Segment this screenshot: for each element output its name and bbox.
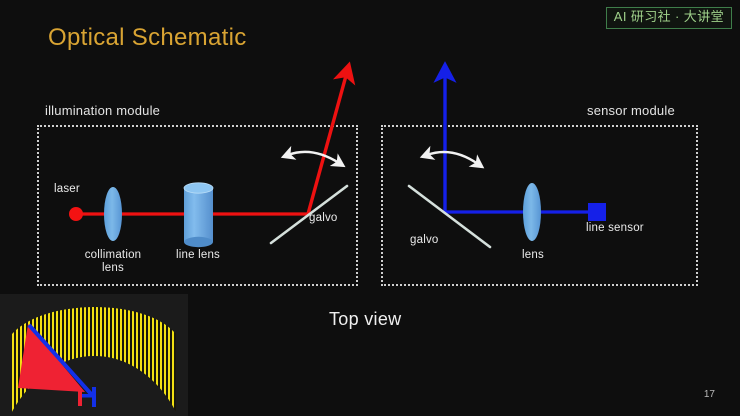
line-lens-label: line lens (167, 249, 229, 262)
top-view-label: Top view (329, 309, 401, 330)
lens-label: lens (512, 249, 554, 262)
laser-label: laser (54, 183, 80, 196)
page-number: 17 (704, 389, 715, 400)
receiver-marker (92, 387, 96, 407)
sensor-module-label: sensor module (587, 103, 675, 118)
illumination-module-label: illumination module (45, 103, 160, 118)
collimation-lens-label: collimation lens (80, 249, 146, 275)
page-title: Optical Schematic (48, 24, 247, 52)
brand-logo: AI 研习社 · 大讲堂 (606, 7, 732, 29)
slide-canvas: AI 研习社 · 大讲堂 Optical Schematic illuminat… (0, 0, 740, 416)
galvo-right-label: galvo (410, 234, 439, 247)
galvo-left-label: galvo (309, 212, 338, 225)
line-sensor-label: line sensor (586, 222, 644, 235)
emitter-marker (78, 388, 82, 406)
scan-pattern-inset (0, 294, 188, 416)
